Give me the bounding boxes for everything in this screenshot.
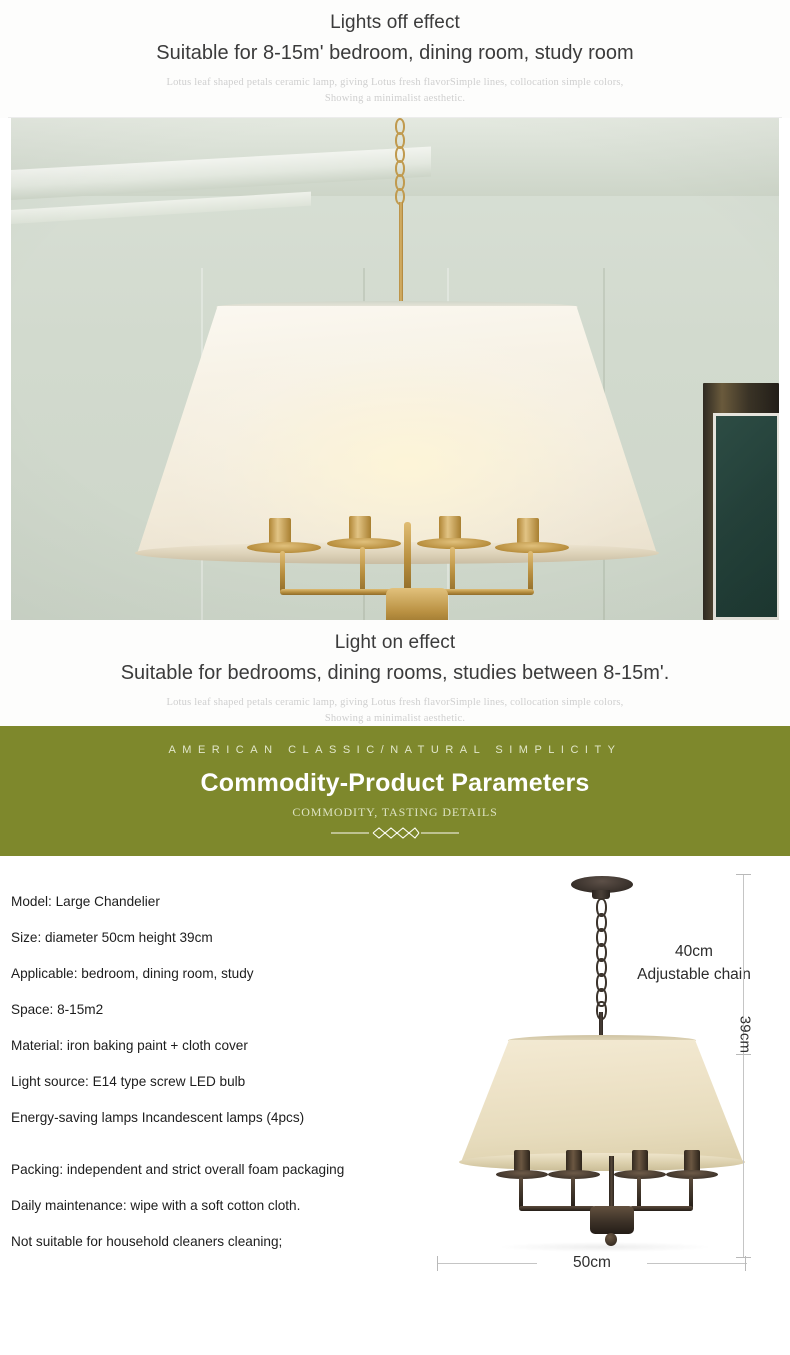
bottom-caption-block: Light on effect Suitable for bedrooms, d… [0,620,790,726]
specification-list: Model: Large Chandelier Size: diameter 5… [11,893,441,1269]
diagram-shadow [500,1242,710,1252]
height-tick-top [736,874,751,875]
width-label: 50cm [537,1252,647,1274]
spec-material: Material: iron baking paint + cloth cove… [11,1037,441,1055]
bottom-fineprint-line-1: Lotus leaf shaped petals ceramic lamp, g… [0,695,790,711]
diagram-chandelier-arms [492,1150,720,1250]
banner-kicker: AMERICAN CLASSIC/NATURAL SIMPLICITY [0,726,790,758]
banner-subtitle: COMMODITY, TASTING DETAILS [0,803,790,821]
spec-lamp-count: Energy-saving lamps Incandescent lamps (… [11,1109,441,1127]
dimension-diagram: 40cm Adjustable chain [430,862,790,1292]
lights-off-room-photo [11,118,779,620]
height-label: 39cm [737,1014,754,1056]
spec-light-source: Light source: E14 type screw LED bulb [11,1073,441,1091]
lights-off-heading: Lights off effect [0,8,790,38]
photo-vignette [11,118,779,620]
width-tick-left [437,1256,438,1271]
spec-spacer [11,1145,441,1161]
zigzag-divider-icon [329,825,461,841]
top-caption-block: Lights off effect Suitable for 8-15m' be… [0,0,790,118]
spec-space: Space: 8-15m2 [11,1001,441,1019]
spec-packing: Packing: independent and strict overall … [11,1161,441,1179]
top-fineprint-line-1: Lotus leaf shaped petals ceramic lamp, g… [0,75,790,91]
light-on-subheading: Suitable for bedrooms, dining rooms, stu… [0,658,790,688]
diagram-center-stem [609,1156,614,1208]
height-ruler-line [743,874,744,1258]
spec-maintenance: Daily maintenance: wipe with a soft cott… [11,1197,441,1215]
spec-size: Size: diameter 50cm height 39cm [11,929,441,947]
product-parameters-banner: AMERICAN CLASSIC/NATURAL SIMPLICITY Comm… [0,726,790,856]
spec-cleaning: Not suitable for household cleaners clea… [11,1233,441,1251]
spec-model: Model: Large Chandelier [11,893,441,911]
banner-title: Commodity-Product Parameters [0,766,790,800]
width-tick-right [745,1256,746,1271]
light-on-heading: Light on effect [0,628,790,658]
lights-off-subheading: Suitable for 8-15m' bedroom, dining room… [0,38,790,68]
diagram-hub [590,1206,634,1234]
product-detail-page: Lights off effect Suitable for 8-15m' be… [0,0,790,1355]
height-ruler: 39cm [732,874,756,1258]
diagram-lampshade [461,1040,743,1162]
bottom-fineprint-line-2: Showing a minimalist aesthetic. [0,711,790,727]
top-fineprint-line-2: Showing a minimalist aesthetic. [0,91,790,107]
spec-applicable: Applicable: bedroom, dining room, study [11,965,441,983]
width-ruler: 50cm [437,1252,747,1274]
